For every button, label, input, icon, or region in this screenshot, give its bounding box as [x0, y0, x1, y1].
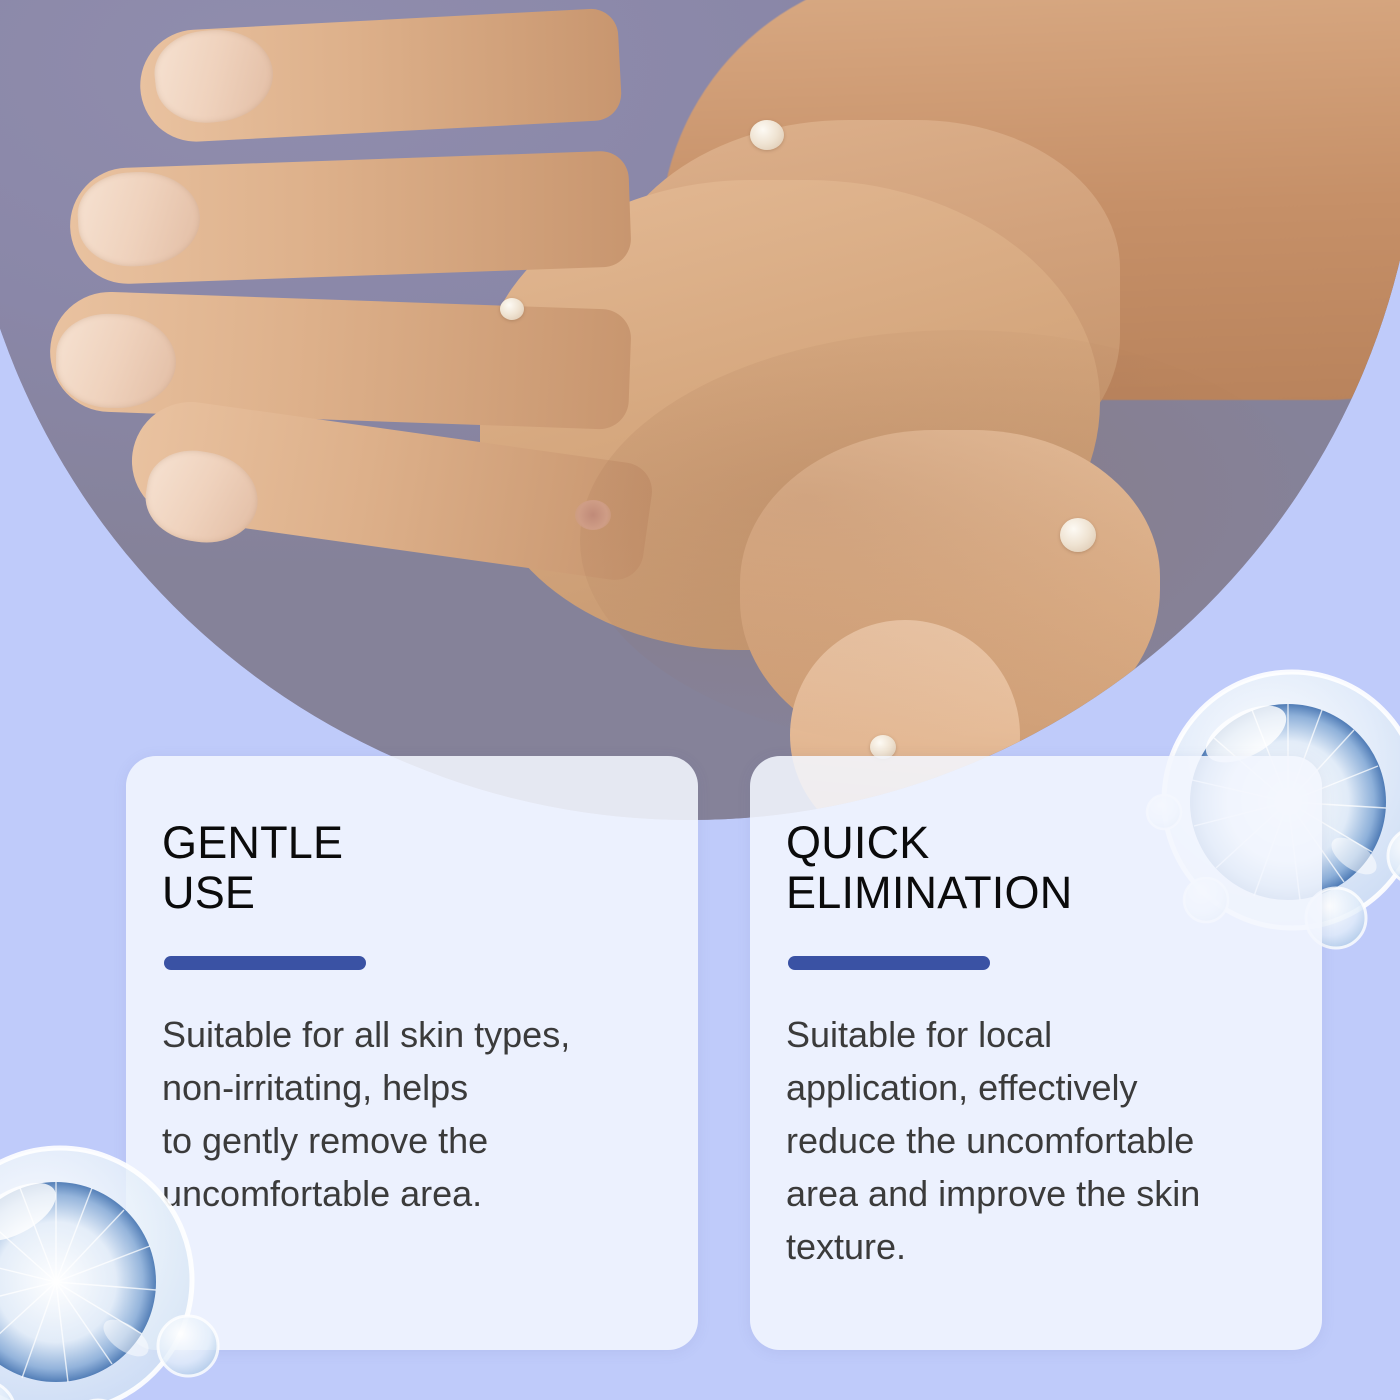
skin-growth-2 [500, 298, 524, 320]
skin-growth-1 [750, 120, 784, 150]
feature-card-body: Suitable for local application, effectiv… [786, 1008, 1282, 1273]
skin-growth-3 [1060, 518, 1096, 552]
accent-divider [788, 956, 990, 970]
promo-graphic: GENTLE USE Suitable for all skin types, … [0, 0, 1400, 1400]
skin-shading [580, 330, 1340, 750]
feature-card-title: GENTLE USE [162, 818, 658, 918]
feature-card-gentle-use[interactable]: GENTLE USE Suitable for all skin types, … [126, 756, 698, 1350]
hero-photo-circle [0, 0, 1400, 820]
feature-card-title: QUICK ELIMINATION [786, 818, 1282, 918]
feature-card-quick-elimination[interactable]: QUICK ELIMINATION Suitable for local app… [750, 756, 1322, 1350]
feature-card-body: Suitable for all skin types, non-irritat… [162, 1008, 658, 1220]
accent-divider [164, 956, 366, 970]
hand-photo [0, 0, 1400, 820]
skin-blemish-1 [575, 500, 611, 530]
